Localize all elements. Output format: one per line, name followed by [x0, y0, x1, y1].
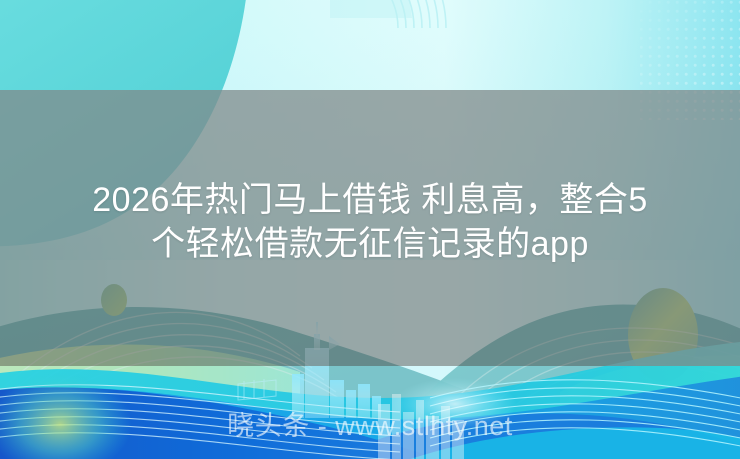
arc-ring-fill	[330, 0, 412, 18]
dot-grid-right	[640, 0, 740, 120]
watermark-text: 晓头条 - www.stlhty.net	[0, 409, 740, 443]
ellipse-green-small	[101, 284, 127, 316]
page-title: 2026年热门马上借钱 利息高，整合5 个轻松借款无征信记录的app	[0, 178, 740, 266]
article-cover-image: 2026年热门马上借钱 利息高，整合5 个轻松借款无征信记录的app 晓头条 -…	[0, 0, 740, 459]
